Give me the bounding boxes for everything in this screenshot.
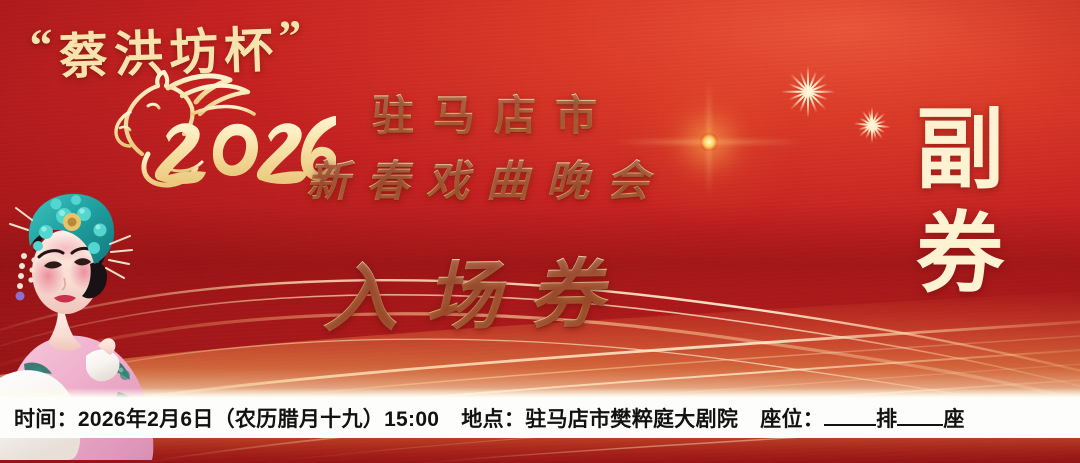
ticket-poster: “蔡洪坊杯”: [0, 0, 1080, 463]
time-label: 时间：: [14, 408, 78, 431]
seat-row-unit: 排: [876, 408, 897, 431]
place-field: 地点：驻马店市樊粹庭大剧院: [461, 403, 738, 433]
place-label: 地点：: [461, 408, 525, 431]
seat-field: 座位：排座: [760, 403, 965, 433]
quote-close: ”: [278, 10, 309, 62]
glow-orb-icon: [700, 133, 718, 151]
seat-label: 座位：: [760, 408, 824, 431]
seat-row-input[interactable]: [824, 424, 876, 426]
quote-open: “: [29, 19, 60, 71]
event-title-line1: 驻马店市: [372, 82, 616, 143]
stub-label: 副券: [905, 98, 1015, 306]
event-title-line2: 新春戏曲晚会: [306, 147, 666, 209]
time-value: 2026年2月6日（农历腊月十九）15:00: [78, 408, 439, 431]
time-field: 时间：2026年2月6日（农历腊月十九）15:00: [14, 403, 439, 433]
admission-label: 入场券: [321, 232, 632, 346]
seat-seat-unit: 座: [943, 408, 964, 431]
info-bar: 时间：2026年2月6日（农历腊月十九）15:00 地点：驻马店市樊粹庭大剧院 …: [0, 398, 1080, 438]
seat-seat-input[interactable]: [897, 424, 943, 426]
place-value: 驻马店市樊粹庭大剧院: [525, 408, 738, 431]
